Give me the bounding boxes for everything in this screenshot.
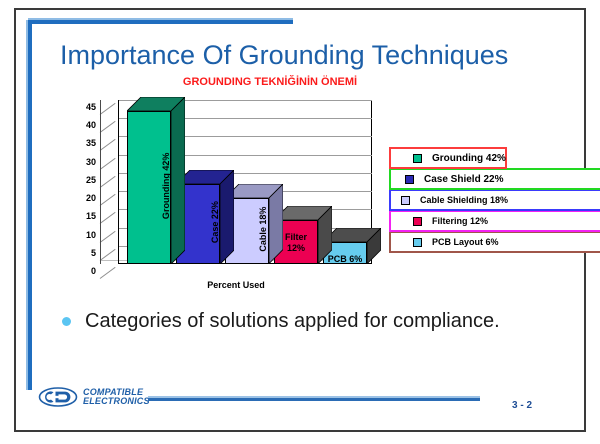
bar-chart: 051015202530354045 Grounding 42%Case 22%… — [70, 100, 390, 300]
y-axis-tick-labels: 051015202530354045 — [70, 100, 96, 274]
legend-item-3[interactable]: Filtering 12% — [389, 210, 600, 232]
y-axis-tick-label: 25 — [86, 175, 96, 185]
legend-label: Case Shield 22% — [424, 174, 503, 185]
y-axis-tick-label: 10 — [86, 230, 96, 240]
bar-side-face — [220, 184, 234, 264]
bar-top-face — [127, 97, 171, 111]
y-axis-tick-label: 30 — [86, 157, 96, 167]
company-logo-text: COMPATIBLE ELECTRONICS — [83, 388, 150, 407]
company-logo: COMPATIBLE ELECTRONICS — [38, 387, 150, 407]
legend-label: Cable Shielding 18% — [420, 195, 508, 205]
legend-swatch — [405, 175, 414, 184]
y-axis-tick-label: 20 — [86, 193, 96, 203]
bar-value-label: Grounding 42% — [127, 117, 171, 254]
legend-item-1[interactable]: Case Shield 22% — [389, 168, 600, 190]
frame-accent-left — [28, 20, 32, 390]
legend-item-0[interactable]: Grounding 42% — [389, 147, 507, 169]
page-number: 3 - 2 — [512, 400, 532, 411]
legend-swatch — [413, 154, 422, 163]
y-axis-tick-label: 40 — [86, 120, 96, 130]
axis-depth-tick — [100, 176, 116, 188]
axis-left-wall — [100, 100, 101, 264]
page-subtitle: GROUNDING TEKNİĞİNİN ÖNEMİ — [60, 76, 480, 88]
legend-item-4[interactable]: PCB Layout 6% — [389, 231, 600, 253]
compatible-electronics-emblem-icon — [38, 387, 78, 407]
axis-depth-tick — [100, 249, 116, 261]
bar-grounding: Grounding 42% — [127, 111, 171, 264]
axis-depth-tick — [100, 230, 116, 242]
bar-side-face — [171, 111, 185, 264]
y-axis-tick-label: 5 — [91, 248, 96, 258]
bar-side-face — [269, 198, 283, 264]
y-axis-tick-label: 45 — [86, 102, 96, 112]
bullet-text: Categories of solutions applied for comp… — [85, 310, 500, 333]
legend-label: Filtering 12% — [432, 216, 488, 226]
axis-depth-tick — [100, 121, 116, 133]
axis-depth-tick — [100, 212, 116, 224]
bar-side-face — [318, 220, 332, 264]
bar-series: Grounding 42%Case 22%Cable 18%Filter12%P… — [119, 100, 372, 264]
y-axis-tick-label: 35 — [86, 138, 96, 148]
footer-rule — [148, 398, 480, 401]
page-title: Importance Of Grounding Techniques — [60, 40, 540, 71]
bullet-dot-icon — [62, 317, 71, 326]
x-axis-title: Percent Used — [100, 280, 372, 290]
chart-legend: Grounding 42%Case Shield 22%Cable Shield… — [389, 147, 600, 252]
axis-depth-tick — [100, 157, 116, 169]
plot-area: Grounding 42%Case 22%Cable 18%Filter12%P… — [100, 100, 372, 274]
legend-swatch — [413, 238, 422, 247]
bullet-list-item: Categories of solutions applied for comp… — [62, 310, 500, 333]
axis-depth-tick — [100, 194, 116, 206]
slide-canvas: Importance Of Grounding Techniques GROUN… — [0, 0, 600, 444]
logo-line-2: ELECTRONICS — [83, 397, 150, 407]
legend-label: Grounding 42% — [432, 153, 506, 164]
legend-item-2[interactable]: Cable Shielding 18% — [389, 189, 600, 211]
axis-depth-tick — [100, 139, 116, 151]
legend-label: PCB Layout 6% — [432, 237, 499, 247]
axis-depth-tick — [100, 103, 116, 115]
y-axis-tick-label: 0 — [91, 266, 96, 276]
bar-side-face — [367, 242, 381, 264]
legend-swatch — [401, 196, 410, 205]
legend-swatch — [413, 217, 422, 226]
y-axis-tick-label: 15 — [86, 211, 96, 221]
frame-accent-top — [28, 20, 293, 24]
